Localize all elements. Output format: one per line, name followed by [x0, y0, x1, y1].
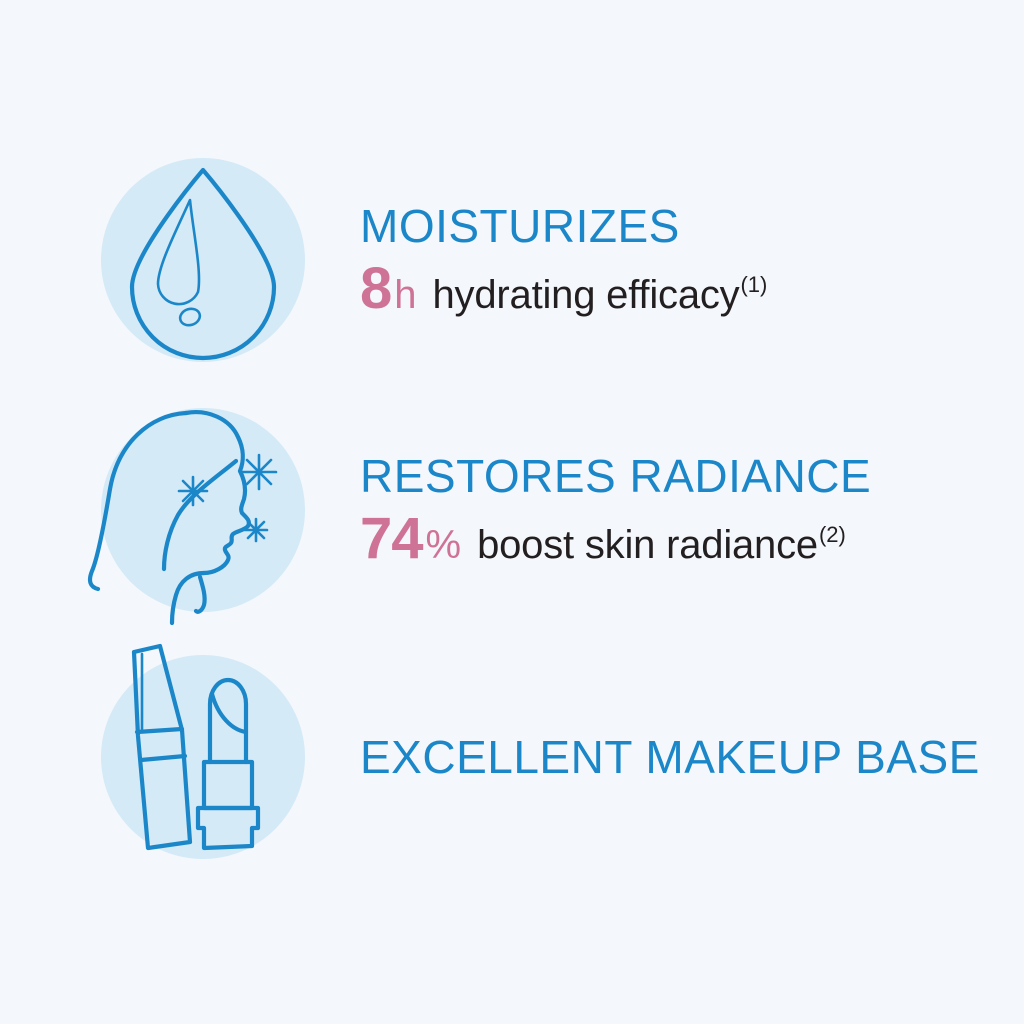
benefit-text-moisturizes: MOISTURIZES 8hhydrating efficacy(1): [360, 202, 1024, 318]
claim-text: boost skin radiance: [477, 525, 818, 565]
claim-reference: (2): [819, 524, 846, 546]
benefits-infographic: MOISTURIZES 8hhydrating efficacy(1): [0, 0, 1024, 1024]
sparkle-large-icon: [242, 455, 276, 489]
claim-unit: h: [394, 275, 416, 315]
benefit-claim: 74%boost skin radiance(2): [360, 510, 984, 568]
sparkle-medium-icon: [179, 477, 207, 505]
benefit-text-excellent-makeup-base: EXCELLENT MAKEUP BASE: [360, 632, 1024, 882]
radiant-face-profile-icon: [78, 385, 328, 635]
claim-value: 74: [360, 510, 423, 568]
benefit-row-restores-radiance: RESTORES RADIANCE 74%boost skin radiance…: [0, 385, 1024, 635]
benefit-heading: EXCELLENT MAKEUP BASE: [360, 733, 980, 781]
claim-text: hydrating efficacy: [433, 275, 740, 315]
makeup-lipstick-icon: [78, 632, 328, 882]
claim-value: 8: [360, 260, 391, 318]
benefit-text-restores-radiance: RESTORES RADIANCE 74%boost skin radiance…: [360, 452, 1024, 568]
water-droplet-icon: [78, 135, 328, 385]
claim-reference: (1): [740, 274, 767, 296]
tube-band-upper: [137, 729, 182, 732]
benefit-heading: MOISTURIZES: [360, 202, 984, 250]
benefit-row-moisturizes: MOISTURIZES 8hhydrating efficacy(1): [0, 135, 1024, 385]
benefit-claim: 8hhydrating efficacy(1): [360, 260, 984, 318]
benefit-row-excellent-makeup-base: EXCELLENT MAKEUP BASE: [0, 632, 1024, 882]
claim-unit: %: [426, 525, 462, 565]
benefit-heading: RESTORES RADIANCE: [360, 452, 984, 500]
icon-background-circle: [101, 158, 305, 362]
sparkle-small-icon: [245, 519, 267, 541]
